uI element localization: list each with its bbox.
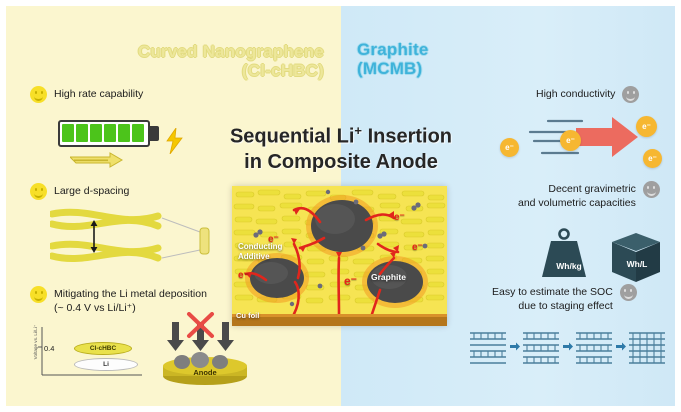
left-heading-line2: (Cl-cHBC) <box>86 61 324 80</box>
feature-high-conductivity-label: High conductivity <box>536 88 615 102</box>
feature-mitigating-li-deposition-label: Mitigating the Li metal deposition <box>54 288 207 302</box>
voltage-mini-chart: Voltage vs. Li/Li⁺ 0.4 Cl-cHBC Li <box>30 325 155 387</box>
feature-high-rate-capability-label: High rate capability <box>54 88 143 102</box>
staging-effect-graphic <box>468 330 673 370</box>
weight-icon-label: Wh/kg <box>547 261 591 271</box>
smiley-icon-grey <box>643 181 660 198</box>
right-heading-line2: (MCMB) <box>357 59 429 78</box>
graphite-label: Graphite <box>371 272 406 282</box>
feature-decent-capacities-label: Decent gravimetric <box>518 183 636 197</box>
voltage-chart-series-li: Li <box>74 358 138 371</box>
cu-foil-label: Cu foil <box>236 311 259 320</box>
center-title-line1: Sequential Li+ Insertion <box>196 118 486 150</box>
feature-easy-soc-estimation-sublabel: due to staging effect <box>492 300 613 314</box>
graphical-abstract: Curved Nanographene (Cl-cHBC) Graphite (… <box>0 0 681 412</box>
center-title-line1-b: Insertion <box>362 126 452 148</box>
battery-graphic <box>48 118 178 174</box>
battery-cap <box>148 126 159 141</box>
center-title: Sequential Li+ Insertion in Composite An… <box>196 118 486 175</box>
right-heading-line1: Graphite <box>357 40 429 59</box>
electron-symbol: e⁻ <box>238 270 249 281</box>
anode-label: Anode <box>193 368 216 377</box>
d-spacing-arrow-icon <box>91 220 98 253</box>
electron-circle: e⁻ <box>500 138 519 157</box>
feature-decent-capacities-sublabel: and volumetric capacities <box>518 197 636 211</box>
feature-easy-soc-estimation-label: Easy to estimate the SOC <box>492 286 613 300</box>
center-title-line1-a: Sequential Li <box>230 126 354 148</box>
speed-arrow-icon <box>70 152 132 168</box>
voltage-chart-tick-label: 0.4 <box>44 344 54 353</box>
conductivity-arrow-icon <box>576 117 638 157</box>
stage-diagram-3 <box>523 333 559 363</box>
center-title-line2: in Composite Anode <box>196 150 486 175</box>
lightning-bolt-icon <box>164 128 184 154</box>
smiley-icon-yellow <box>30 86 47 103</box>
left-panel-heading: Curved Nanographene (Cl-cHBC) <box>86 42 324 80</box>
left-heading-line1: Curved Nanographene <box>86 42 324 61</box>
battery-body <box>58 120 150 147</box>
feature-high-rate-capability: High rate capability <box>30 88 143 103</box>
conductivity-graphic: e⁻ e⁻ e⁻ e⁻ <box>500 112 670 174</box>
smiley-icon-yellow <box>30 286 47 303</box>
feature-easy-soc-estimation: Easy to estimate the SOC due to staging … <box>492 286 637 313</box>
cube-icon-label: Wh/L <box>614 259 660 269</box>
battery-cells <box>62 124 144 142</box>
feature-decent-capacities: Decent gravimetric and volumetric capaci… <box>518 183 660 210</box>
d-spacing-graphic <box>50 202 220 274</box>
stage-diagram-1 <box>629 333 665 363</box>
smiley-icon-grey <box>622 86 639 103</box>
electron-circle: e⁻ <box>636 116 657 137</box>
stage-diagram-2 <box>576 333 612 363</box>
cube-icon <box>612 233 660 282</box>
electron-symbol: e⁻ <box>268 234 279 245</box>
feature-large-d-spacing-label: Large d-spacing <box>54 185 129 199</box>
center-title-superscript: + <box>354 123 362 138</box>
smiley-icon-grey <box>620 284 637 301</box>
graphite-particle <box>362 256 428 308</box>
electron-circle: e⁻ <box>560 130 581 151</box>
electron-symbol: e⁻ <box>344 274 357 288</box>
stage-diagram-4 <box>470 333 506 363</box>
right-panel-heading: Graphite (MCMB) <box>357 40 429 78</box>
feature-large-d-spacing: Large d-spacing <box>30 185 129 200</box>
electron-symbol: e⁻ <box>412 242 423 253</box>
electron-symbol: e⁻ <box>394 212 405 223</box>
feature-mitigating-li-deposition: Mitigating the Li metal deposition (~ 0.… <box>30 288 207 315</box>
graphite-particle <box>306 195 378 257</box>
smiley-icon-yellow <box>30 183 47 200</box>
electron-circle: e⁻ <box>643 149 662 168</box>
voltage-chart-series-clchbc: Cl-cHBC <box>74 342 132 355</box>
capacity-icons: Wh/kg Wh/L <box>538 228 668 286</box>
feature-high-conductivity: High conductivity <box>536 88 639 103</box>
voltage-chart-ylabel: Voltage vs. Li/Li⁺ <box>33 320 39 364</box>
composite-anode-illustration: Conducting Additive Graphite Cu foil e⁻ … <box>232 186 447 326</box>
